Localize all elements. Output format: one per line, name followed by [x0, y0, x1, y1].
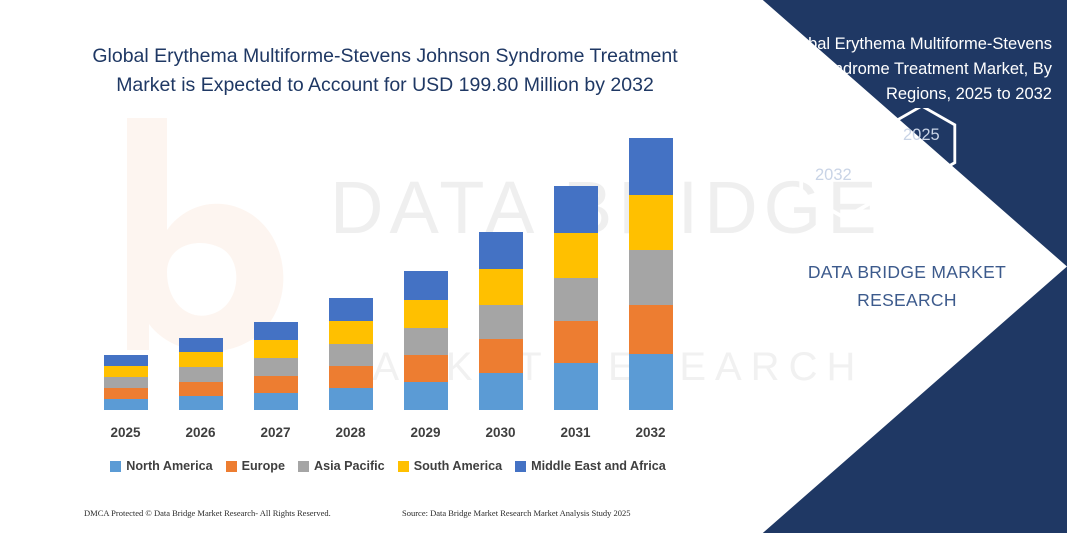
bar-segment	[329, 321, 373, 344]
bar-segment	[629, 250, 673, 305]
infographic-canvas: DATA BRIDGE MARKET RESEARCH Global Eryth…	[0, 0, 1067, 533]
bar-segment	[479, 339, 523, 373]
bar-segment	[329, 366, 373, 388]
bar-segment	[329, 388, 373, 410]
bar-segment	[104, 355, 148, 366]
legend-item[interactable]: North America	[110, 459, 212, 473]
bar-column	[392, 120, 460, 410]
bar-segment	[404, 300, 448, 328]
bar-group	[88, 120, 688, 410]
bar-segment	[104, 388, 148, 399]
bar-segment	[179, 396, 223, 410]
bar-column	[467, 120, 535, 410]
bar-segment	[554, 186, 598, 233]
hexagon-label-start: 2025	[903, 126, 940, 145]
legend-swatch-icon	[110, 461, 121, 472]
bar-column	[92, 120, 160, 410]
bar-segment	[629, 138, 673, 195]
bar-segment	[254, 376, 298, 393]
bar-segment	[404, 271, 448, 300]
bar-segment	[479, 232, 523, 269]
bar-segment	[629, 195, 673, 250]
bar-column	[542, 120, 610, 410]
bar-segment	[179, 382, 223, 396]
footer-copyright: DMCA Protected © Data Bridge Market Rese…	[84, 508, 331, 518]
bar-column	[617, 120, 685, 410]
bar-segment	[254, 358, 298, 376]
legend-label: Middle East and Africa	[531, 459, 666, 473]
bar-segment	[179, 338, 223, 352]
bar-segment	[629, 305, 673, 354]
chart-plot-area	[88, 120, 688, 410]
legend-item[interactable]: Middle East and Africa	[515, 459, 666, 473]
legend-label: Asia Pacific	[314, 459, 385, 473]
x-axis-tick-label: 2031	[542, 425, 610, 440]
x-axis-tick-label: 2025	[92, 425, 160, 440]
bar-segment	[104, 399, 148, 410]
legend-item[interactable]: Asia Pacific	[298, 459, 385, 473]
x-axis-labels: 20252026202720282029203020312032	[88, 420, 688, 444]
bar-segment	[329, 344, 373, 366]
stacked-bar	[554, 186, 598, 410]
bar-segment	[554, 233, 598, 278]
legend-label: South America	[414, 459, 502, 473]
bar-segment	[554, 278, 598, 321]
legend-swatch-icon	[398, 461, 409, 472]
stacked-bar	[104, 355, 148, 410]
page-title: Global Erythema Multiforme-Stevens Johns…	[70, 42, 700, 100]
stacked-bar	[629, 138, 673, 410]
bar-segment	[104, 377, 148, 388]
legend-swatch-icon	[226, 461, 237, 472]
bar-segment	[404, 382, 448, 410]
legend-label: Europe	[242, 459, 285, 473]
stacked-bar	[254, 322, 298, 410]
x-axis-tick-label: 2027	[242, 425, 310, 440]
bar-segment	[254, 322, 298, 340]
legend-swatch-icon	[515, 461, 526, 472]
bar-segment	[179, 367, 223, 382]
bar-segment	[479, 269, 523, 305]
x-axis-tick-label: 2032	[617, 425, 685, 440]
x-axis-tick-label: 2029	[392, 425, 460, 440]
bar-segment	[254, 340, 298, 358]
bar-segment	[104, 366, 148, 377]
bar-segment	[479, 305, 523, 339]
x-axis-tick-label: 2026	[167, 425, 235, 440]
legend-item[interactable]: South America	[398, 459, 502, 473]
bar-column	[317, 120, 385, 410]
stacked-bar	[179, 338, 223, 410]
bar-segment	[554, 321, 598, 363]
right-panel-content: Global Erythema Multiforme-Stevens Johns…	[677, 0, 1067, 533]
bar-column	[242, 120, 310, 410]
chart-legend: North AmericaEuropeAsia PacificSouth Ame…	[88, 455, 688, 477]
bar-segment	[404, 328, 448, 355]
bar-segment	[479, 373, 523, 410]
right-panel-title: Global Erythema Multiforme-Stevens Johns…	[732, 32, 1052, 107]
bar-column	[167, 120, 235, 410]
right-panel-watermark: DATA BRIDGE MARKET RESEARCH	[777, 258, 1037, 314]
bar-segment	[329, 298, 373, 321]
legend-label: North America	[126, 459, 212, 473]
hexagon-group: 2032 2025	[772, 108, 1062, 218]
legend-swatch-icon	[298, 461, 309, 472]
footer-source: Source: Data Bridge Market Research Mark…	[402, 508, 631, 518]
bar-segment	[629, 354, 673, 410]
footer: DMCA Protected © Data Bridge Market Rese…	[84, 508, 684, 522]
x-axis-tick-label: 2030	[467, 425, 535, 440]
stacked-bar	[329, 298, 373, 410]
stacked-bar	[479, 232, 523, 410]
hexagon-shapes	[772, 108, 1062, 218]
bar-segment	[404, 355, 448, 382]
bar-segment	[254, 393, 298, 410]
stacked-bar	[404, 271, 448, 410]
bar-segment	[554, 363, 598, 410]
legend-item[interactable]: Europe	[226, 459, 285, 473]
bar-segment	[179, 352, 223, 367]
x-axis-tick-label: 2028	[317, 425, 385, 440]
hexagon-label-end: 2032	[815, 166, 852, 185]
